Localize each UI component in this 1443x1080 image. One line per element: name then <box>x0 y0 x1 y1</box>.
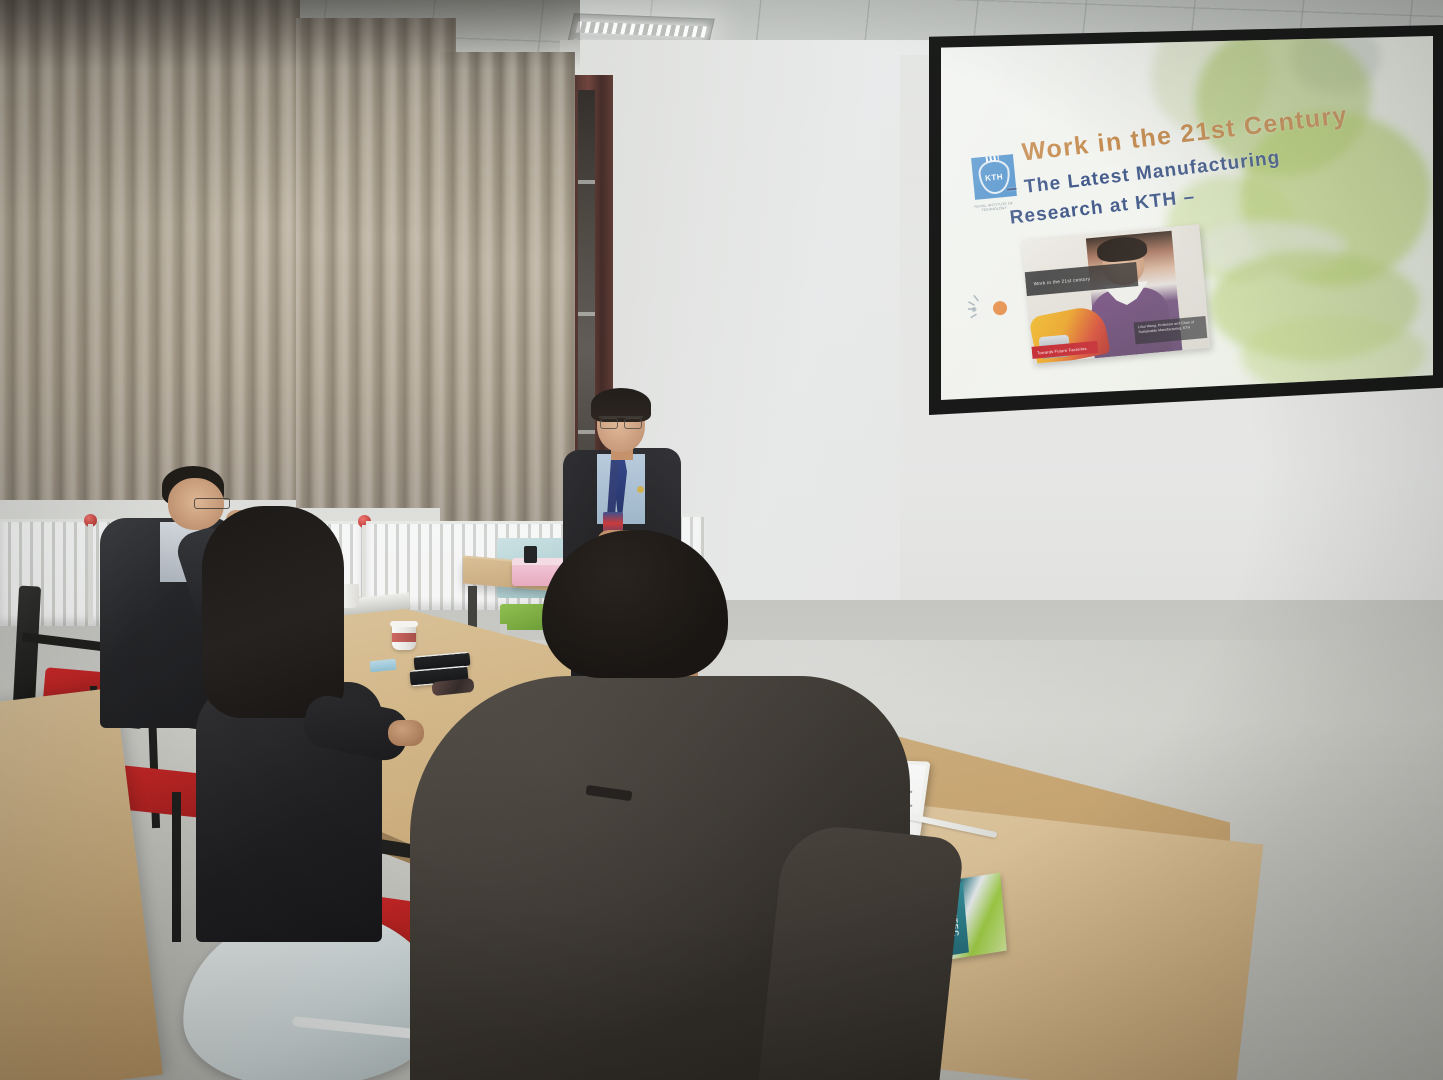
orange-ring-logo <box>965 286 1014 330</box>
lapel-pin <box>637 486 644 493</box>
radiator-pipe <box>88 524 93 624</box>
window-mullion <box>578 312 595 316</box>
slide-inner-photo: Work in the 21st century Lihui Wang, Pro… <box>1022 224 1211 364</box>
window-mullion <box>578 180 595 184</box>
curtain-panel-3 <box>440 52 575 522</box>
photo-scene: KTH ROYAL INSTITUTE OF TECHNOLOGY Work i… <box>0 0 1443 1080</box>
curtain-panel-2 <box>296 18 456 508</box>
crown-icon <box>986 155 999 161</box>
glasses-icon <box>599 416 643 427</box>
arm <box>755 821 964 1080</box>
attendee-foreground-man <box>410 530 930 1080</box>
curtain-panel-1 <box>0 0 300 500</box>
projection-screen: KTH ROYAL INSTITUTE OF TECHNOLOGY Work i… <box>941 36 1433 400</box>
attendee-seated-woman <box>196 506 436 946</box>
hair <box>542 530 728 678</box>
hair <box>202 506 344 718</box>
kth-logo-text: KTH <box>985 172 1004 183</box>
